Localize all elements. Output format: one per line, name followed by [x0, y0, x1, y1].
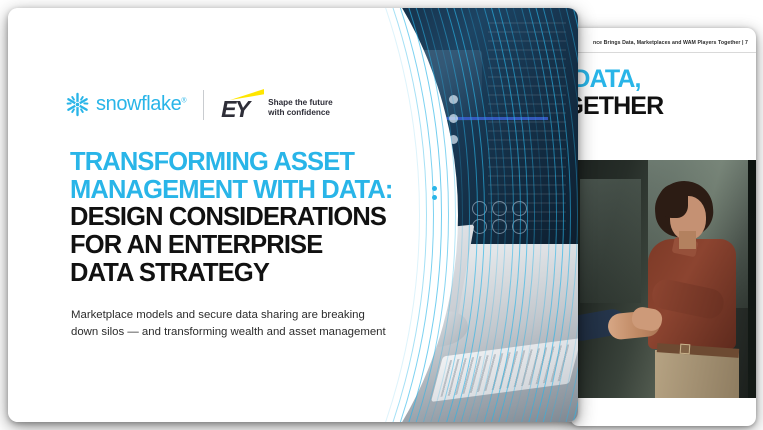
ey-mark: EY: [221, 93, 261, 123]
ey-tagline-line-2: with confidence: [268, 108, 333, 119]
ey-logo: EY Shape the future with confidence: [221, 86, 333, 123]
photo-woman-buckle: [680, 344, 691, 355]
headline-line-5: DATA STRATEGY: [70, 260, 470, 288]
snowflake-icon: [65, 92, 90, 117]
header-rule: [570, 52, 756, 53]
headline-line-1: TRANSFORMING ASSET: [70, 149, 470, 177]
photo-woman-neck: [679, 231, 696, 249]
document-page-back[interactable]: nce Brings Data, Marketplaces and WAM Pl…: [570, 28, 756, 426]
registered-mark: ®: [181, 97, 186, 104]
artwork-dot-2: [449, 114, 458, 123]
artwork-server-rack: [488, 22, 566, 230]
snowflake-wordmark-text: snowflake: [96, 93, 181, 115]
document-page-front[interactable]: snowflake® EY Shape the future with conf…: [8, 8, 578, 422]
headline-line-4: FOR AN ENTERPRISE: [70, 232, 470, 260]
snowflake-wordmark: snowflake®: [96, 93, 186, 116]
handshake-photo: [576, 160, 756, 398]
ey-tagline-line-1: Shape the future: [268, 98, 333, 109]
artwork-rings: [472, 201, 530, 235]
back-page-headline: GS DATA, TOGETHER: [570, 66, 750, 119]
photo-glass-pane-2: [580, 179, 641, 303]
headline-line-2: MANAGEMENT WITH DATA:: [70, 177, 470, 205]
headline-line-3: DESIGN CONSIDERATIONS: [70, 204, 470, 232]
photo-edge-strip: [748, 160, 756, 398]
cover-subtitle: Marketplace models and secure data shari…: [71, 307, 389, 341]
logo-lockup: snowflake® EY Shape the future with conf…: [65, 86, 333, 123]
ey-letters: EY: [221, 96, 248, 123]
back-headline-line-2: TOGETHER: [570, 93, 750, 120]
logo-divider: [203, 90, 204, 120]
photo-woman-hair-front: [658, 184, 688, 218]
back-headline-line-1: GS DATA,: [570, 66, 750, 93]
running-header: nce Brings Data, Marketplaces and WAM Pl…: [570, 40, 748, 46]
screenshot-stage: nce Brings Data, Marketplaces and WAM Pl…: [0, 0, 763, 430]
ey-tagline: Shape the future with confidence: [268, 98, 333, 119]
cover-headline: TRANSFORMING ASSET MANAGEMENT WITH DATA:…: [70, 149, 470, 287]
snowflake-logo: snowflake®: [65, 92, 186, 117]
photo-woman-trousers: [655, 350, 739, 398]
